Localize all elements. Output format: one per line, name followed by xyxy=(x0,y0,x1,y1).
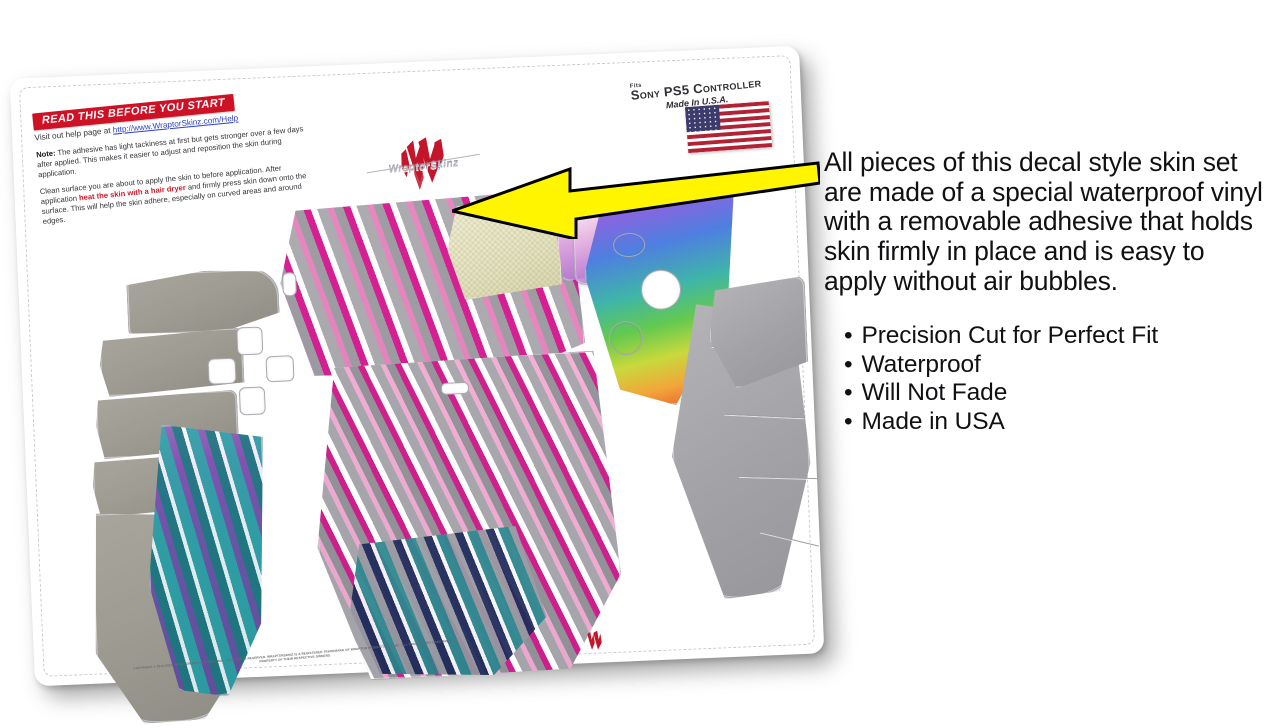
left-stick-cutout xyxy=(282,272,297,297)
product-image-stage: READ THIS BEFORE YOU START Visit out hel… xyxy=(0,0,1280,715)
list-item: Precision Cut for Perfect Fit xyxy=(844,322,1264,350)
marketing-copy: All pieces of this decal style skin set … xyxy=(824,148,1264,452)
skin-piece-touchpad xyxy=(445,198,563,301)
dpad-cutout-right xyxy=(265,355,294,382)
skin-pieces-group xyxy=(10,46,825,687)
list-item: Made in USA xyxy=(844,408,1264,436)
printed-wraptor-mark-icon xyxy=(581,630,604,651)
body-bottom-slot xyxy=(441,382,469,395)
dpad-cutout-up xyxy=(236,326,263,355)
decal-skin-sheet: READ THIS BEFORE YOU START Visit out hel… xyxy=(10,46,825,687)
dpad-cutout-down xyxy=(239,386,266,415)
feature-bullet-list: Precision Cut for Perfect Fit Waterproof… xyxy=(844,322,1264,436)
dpad-cutout-left xyxy=(208,358,237,385)
marketing-paragraph: All pieces of this decal style skin set … xyxy=(824,148,1264,296)
list-item: Waterproof xyxy=(844,351,1264,379)
list-item: Will Not Fade xyxy=(844,379,1264,407)
